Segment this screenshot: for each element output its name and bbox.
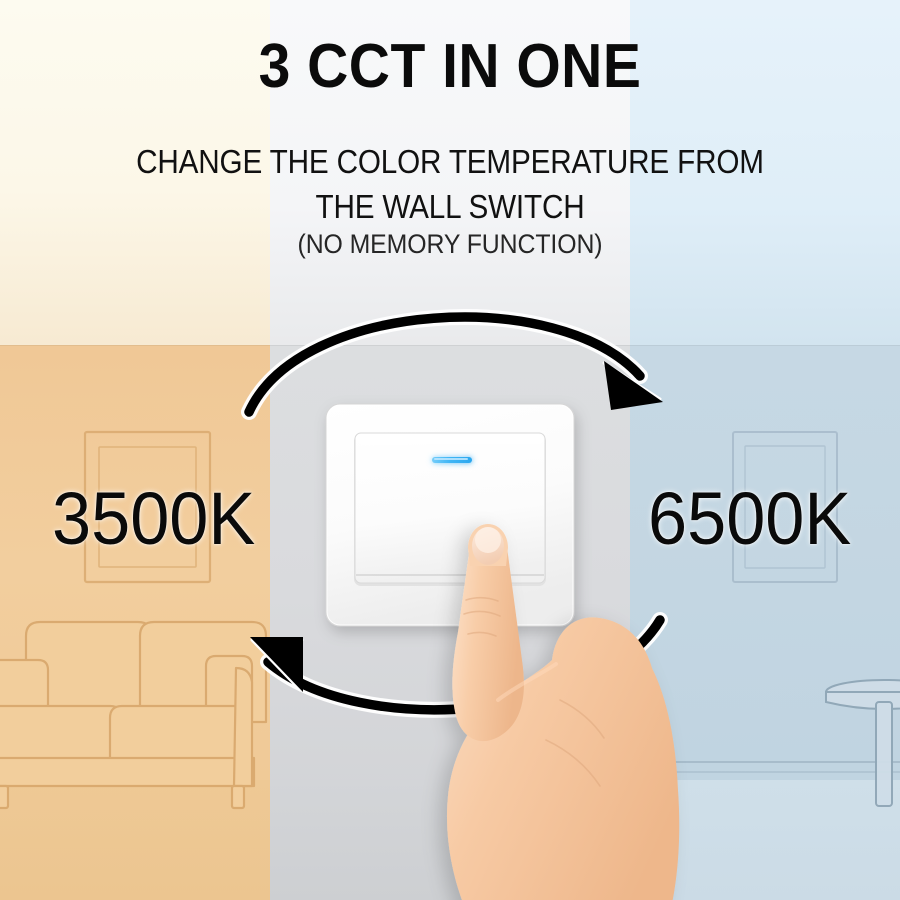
- floor-warm: [0, 780, 270, 900]
- memory-function-note: (NO MEMORY FUNCTION): [36, 228, 864, 260]
- floor-cool: [630, 780, 900, 900]
- page-title: 3 CCT IN ONE: [36, 36, 864, 98]
- page-subtitle: CHANGE THE COLOR TEMPERATURE FROM THE WA…: [45, 140, 855, 230]
- background-zone-warm: [0, 0, 270, 900]
- subtitle-line-2: THE WALL SWITCH: [45, 185, 855, 230]
- infographic-canvas: 3 CCT IN ONE CHANGE THE COLOR TEMPERATUR…: [0, 0, 900, 900]
- wall-division-line: [0, 345, 900, 346]
- label-warm-temperature: 3500K: [52, 482, 255, 556]
- background-zone-cool: [630, 0, 900, 900]
- floor-neutral: [270, 780, 630, 900]
- subtitle-line-1: CHANGE THE COLOR TEMPERATURE FROM: [136, 143, 764, 180]
- background-zone-neutral: [270, 0, 630, 900]
- label-cool-temperature: 6500K: [648, 482, 851, 556]
- floor-band: [0, 780, 900, 900]
